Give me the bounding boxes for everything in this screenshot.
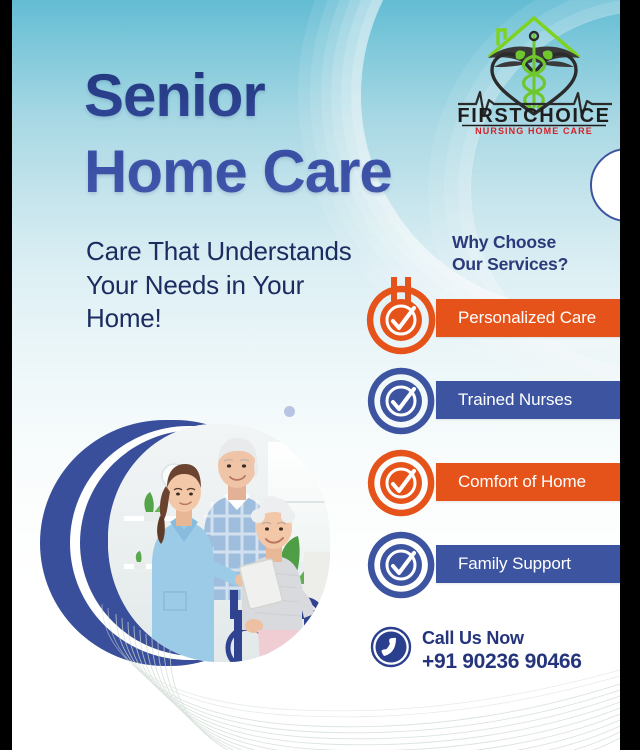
feature-label: Comfort of Home bbox=[458, 472, 586, 492]
why-choose-heading: Why Choose Our Services? bbox=[452, 231, 620, 275]
check-circle-icon bbox=[358, 359, 442, 441]
page-title: Senior Home Care bbox=[84, 58, 504, 210]
feature-bar[interactable]: Comfort of Home bbox=[436, 463, 620, 501]
feature-label: Family Support bbox=[458, 554, 571, 574]
headline-line-1: Senior bbox=[84, 58, 504, 134]
feature-label: Trained Nurses bbox=[458, 390, 572, 410]
decorative-wave-pattern bbox=[12, 600, 620, 750]
feature-item-personalized-care[interactable]: Personalized Care bbox=[352, 277, 620, 359]
check-circle-icon bbox=[358, 277, 442, 359]
feature-item-comfort-of-home[interactable]: Comfort of Home bbox=[352, 441, 620, 523]
feature-bar[interactable]: Trained Nurses bbox=[436, 381, 620, 419]
feature-label: Personalized Care bbox=[458, 308, 596, 328]
feature-item-trained-nurses[interactable]: Trained Nurses bbox=[352, 359, 620, 441]
poster-canvas: FIRSTCHOICE NURSING HOME CARE Senior Hom… bbox=[12, 0, 620, 750]
feature-bar[interactable]: Personalized Care bbox=[436, 299, 620, 337]
feature-item-family-support[interactable]: Family Support bbox=[352, 523, 620, 605]
why-choose-line-1: Why Choose bbox=[452, 231, 620, 253]
feature-bar[interactable]: Family Support bbox=[436, 545, 620, 583]
headline-line-2: Home Care bbox=[84, 134, 504, 210]
why-choose-line-2: Our Services? bbox=[452, 253, 620, 275]
check-circle-icon bbox=[358, 441, 442, 523]
check-circle-icon bbox=[358, 523, 442, 605]
tagline: Care That Understands Your Needs in Your… bbox=[86, 235, 361, 336]
